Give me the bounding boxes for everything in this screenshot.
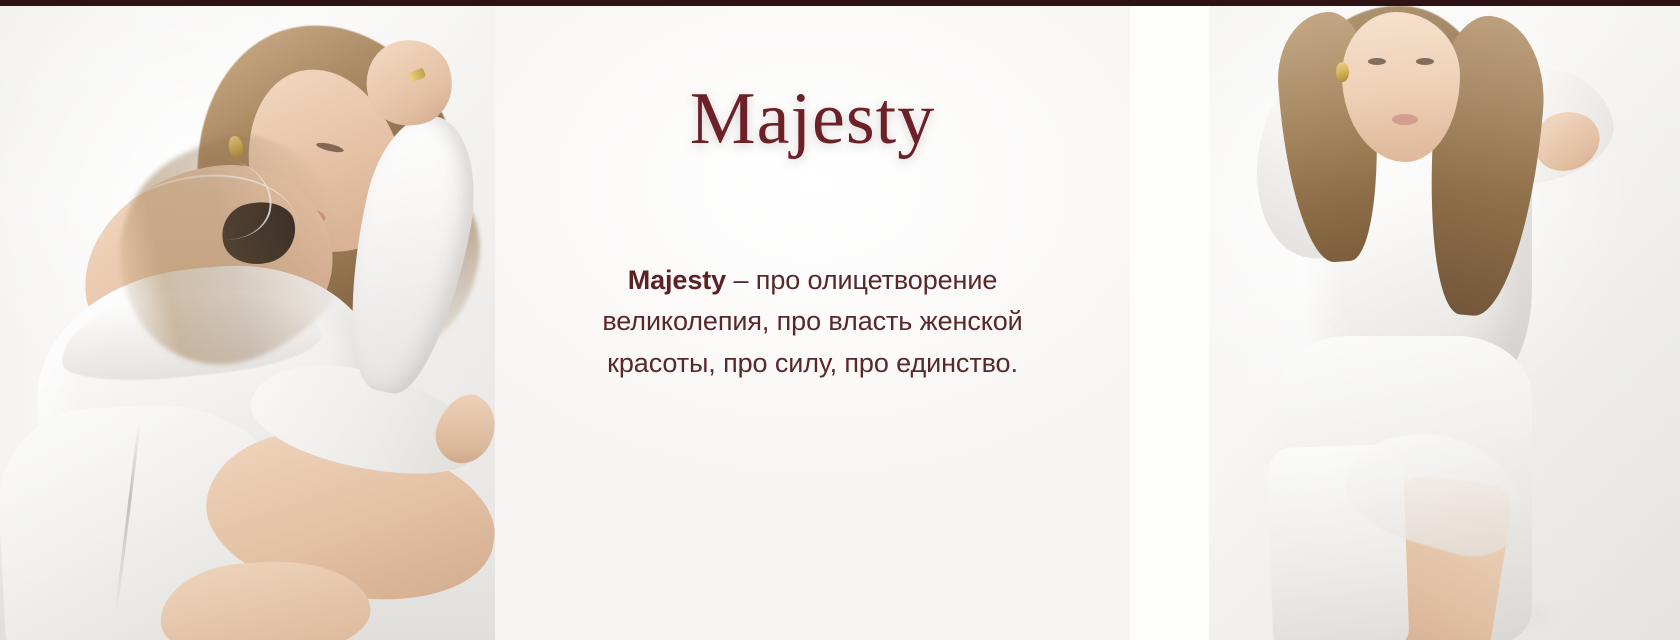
hero-banner: Majesty Majesty – про олицетворение вели…: [0, 0, 1680, 640]
hero-photo-left: [0, 6, 497, 640]
right-panel-gutter: [1130, 6, 1209, 640]
hero-text-panel: Majesty Majesty – про олицетворение вели…: [495, 6, 1130, 640]
hero-photo-right: [1130, 6, 1680, 640]
earring-right: [1336, 62, 1349, 82]
brand-title: Majesty: [690, 6, 935, 156]
model-figure-right: [1130, 6, 1680, 640]
top-accent-bar: [0, 0, 1680, 6]
model-figure-left: [0, 6, 497, 640]
brand-tagline: Majesty – про олицетворение великолепия,…: [563, 156, 1063, 384]
tagline-brand-word: Majesty: [628, 265, 726, 295]
